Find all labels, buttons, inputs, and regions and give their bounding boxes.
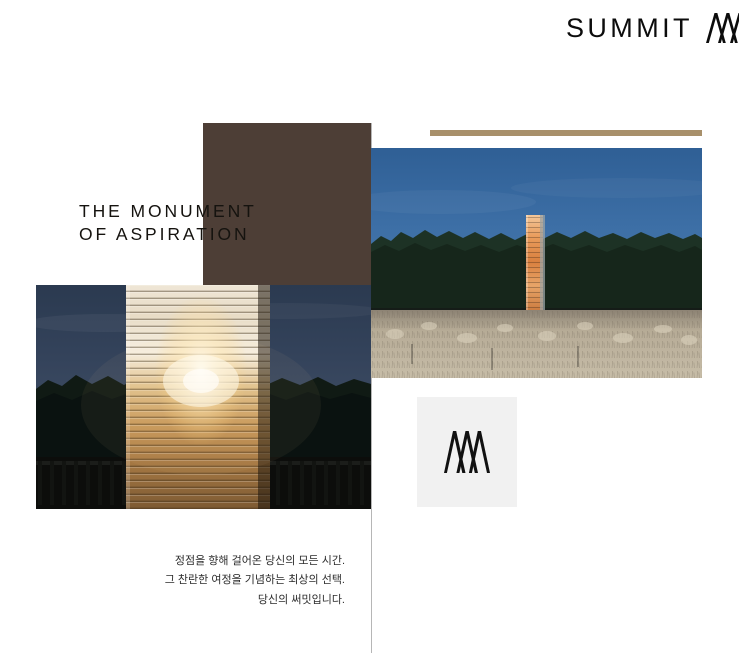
summit-peaks-icon (706, 13, 739, 43)
logo-tile[interactable] (417, 397, 517, 507)
brand-lockup[interactable]: SUMMIT (566, 13, 739, 43)
summit-peaks-icon (444, 431, 490, 473)
body-copy-line-3: 당신의 써밋입니다. (100, 591, 345, 610)
body-copy-line-2: 그 찬란한 여정을 기념하는 최상의 선택. (100, 571, 345, 590)
bronze-divider-rule (430, 130, 702, 136)
page-headline: THE MONUMENT OF ASPIRATION (79, 200, 257, 246)
brand-wordmark: SUMMIT (566, 15, 693, 42)
body-copy: 정점을 향해 걸어온 당신의 모든 시간. 그 찬란한 여정을 기념하는 최상의… (100, 552, 345, 610)
body-copy-line-1: 정점을 향해 걸어온 당신의 모든 시간. (100, 552, 345, 571)
poster-canvas: SUMMIT (0, 0, 739, 653)
glowing-stacked-tower-photo (36, 285, 371, 509)
monolith-in-reed-field-photo (371, 148, 702, 378)
